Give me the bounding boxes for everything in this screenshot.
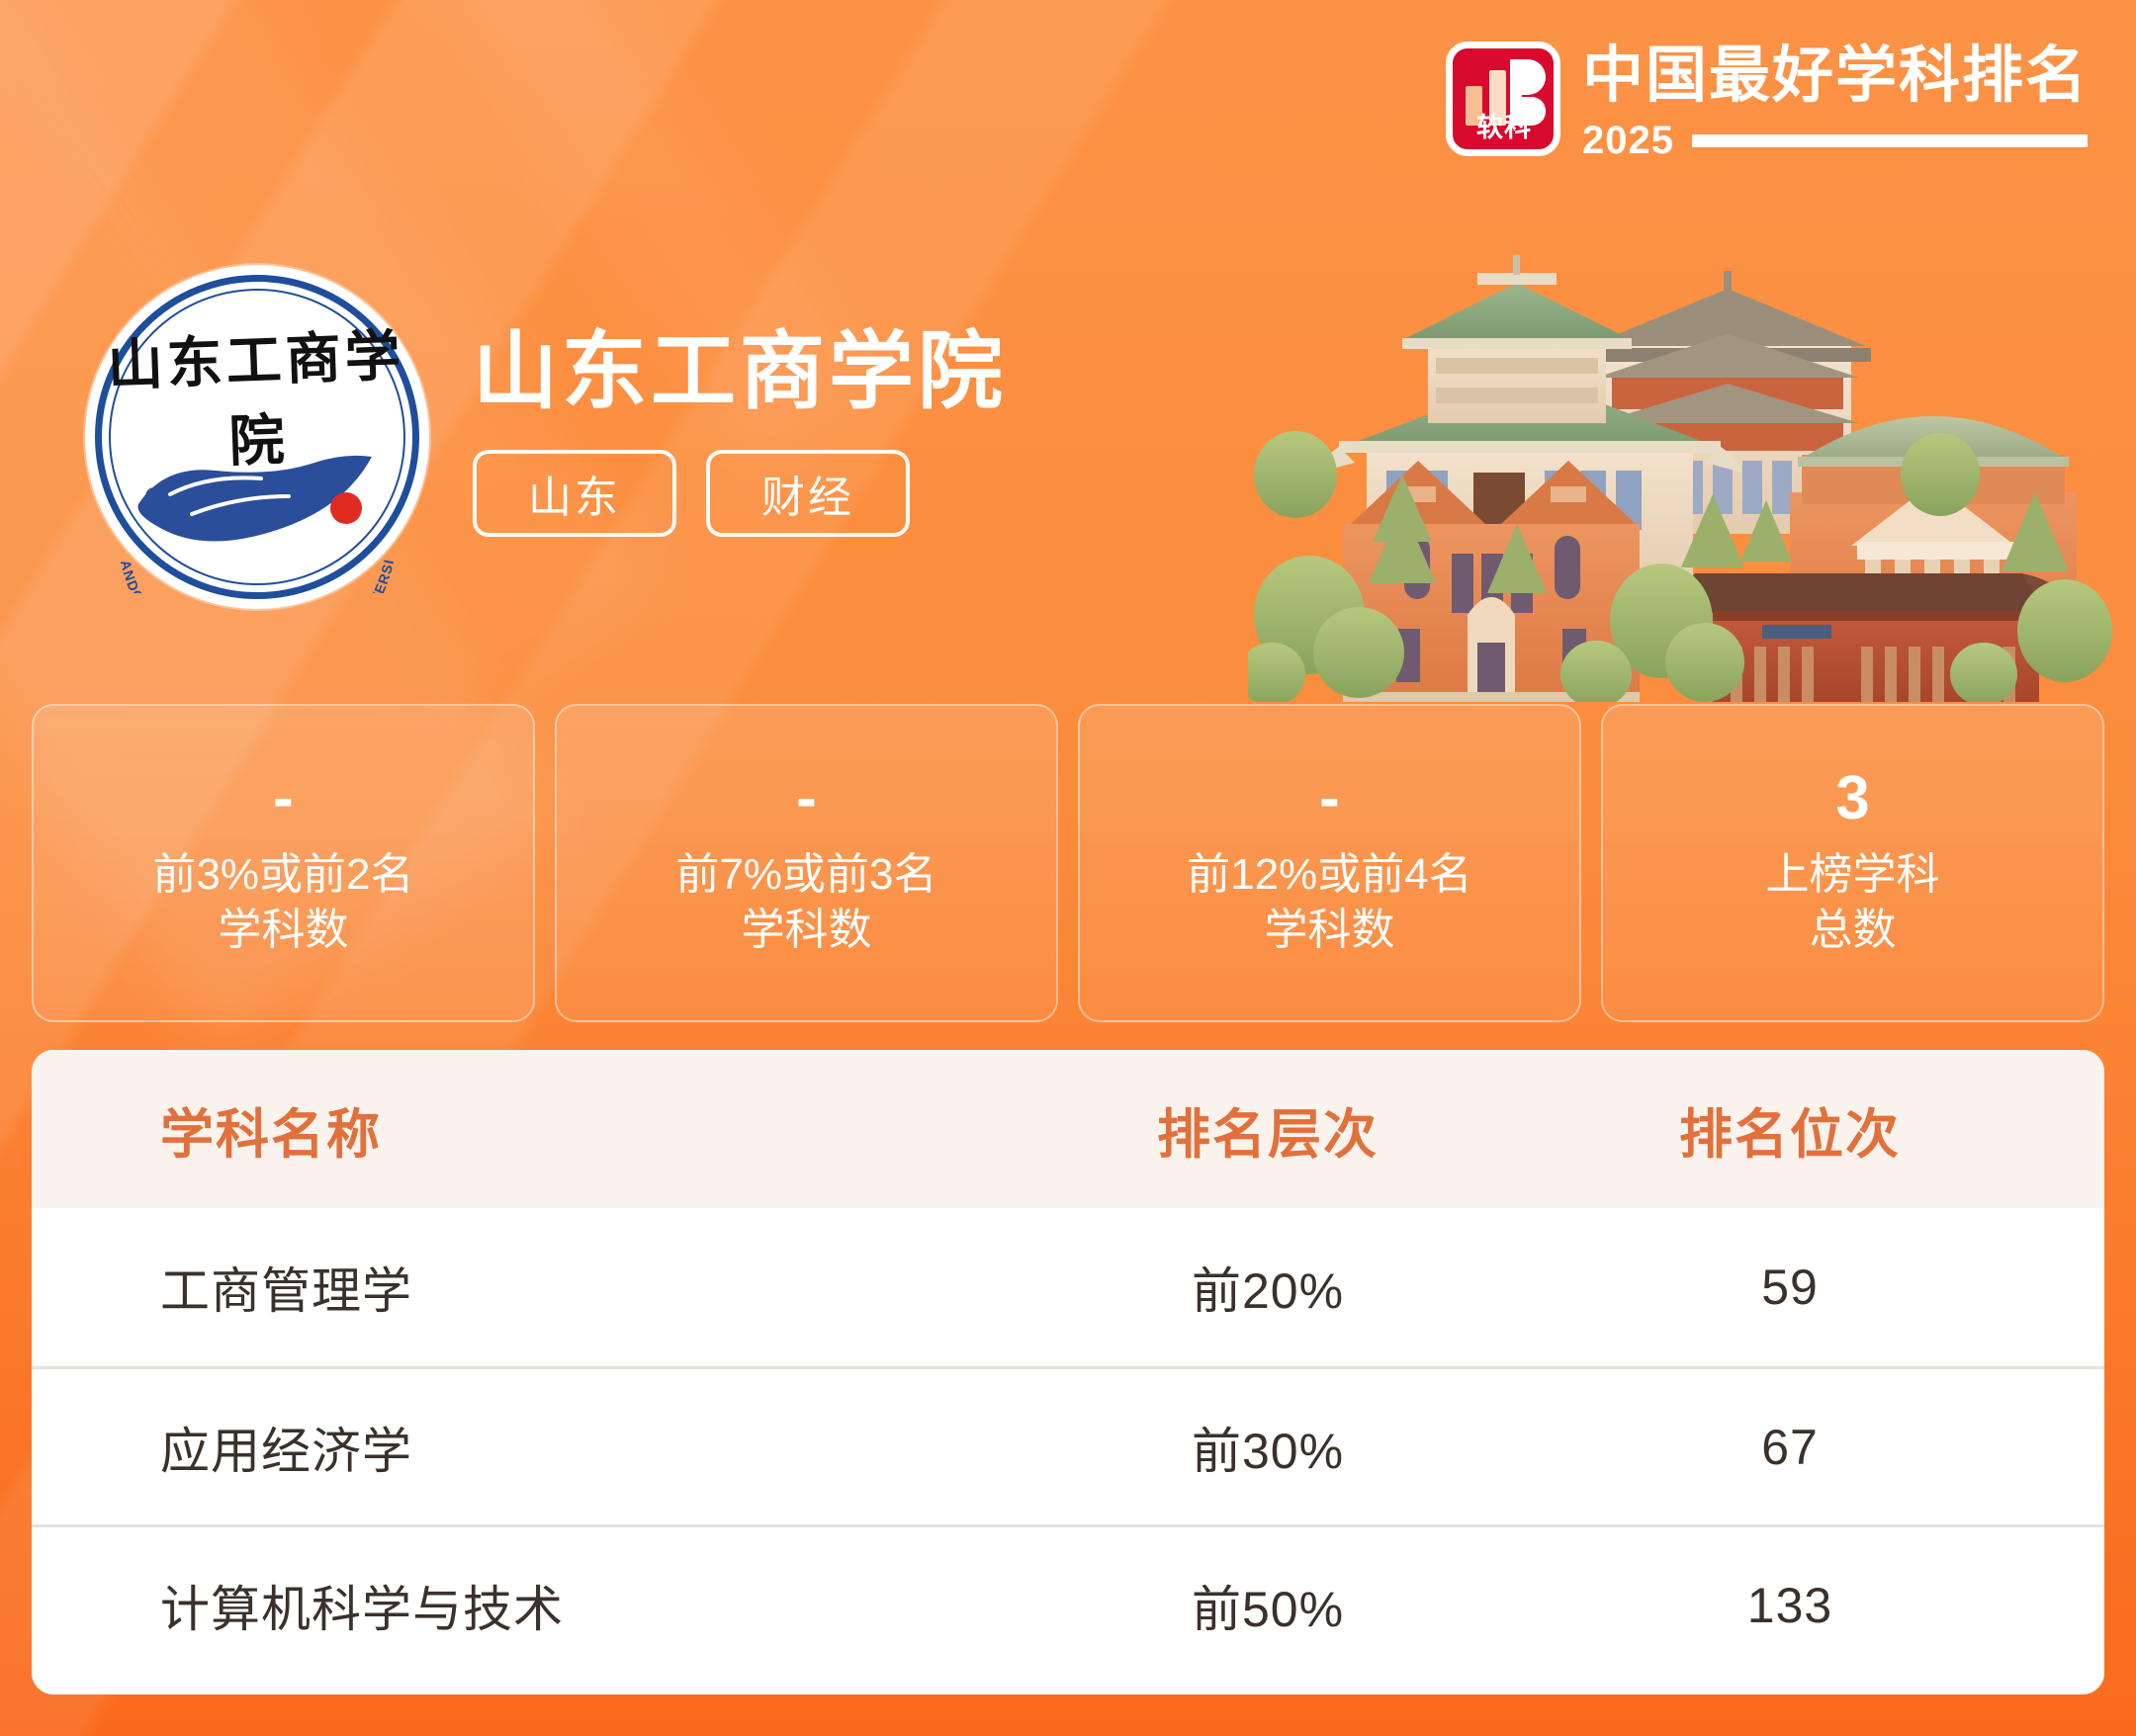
cell-subject: 工商管理学	[32, 1252, 1001, 1323]
stat-value: -	[796, 768, 817, 829]
brand-rule-divider	[1692, 134, 2088, 147]
table-row[interactable]: 计算机科学与技术 前50% 133	[32, 1524, 2104, 1683]
stat-card-top7: - 前7%或前3名 学科数	[555, 704, 1058, 1022]
cell-rank: 59	[1535, 1259, 2104, 1316]
stat-value: -	[273, 768, 294, 829]
seal-red-dot	[330, 492, 362, 524]
stat-label-line2: 学科数	[218, 906, 348, 954]
campus-illustration	[1248, 227, 2118, 702]
table-header-row: 学科名称 排名层次 排名位次	[32, 1050, 2104, 1208]
university-name: 山东工商学院	[473, 327, 1007, 416]
stat-label: 上榜学科 总数	[1766, 847, 1940, 959]
university-logo: 山东工商学院 SHANDONG TECHNOLOGY AND BUSINESS …	[85, 265, 429, 609]
ranking-title: 中国最好学科排名	[1582, 45, 2089, 107]
cell-tier: 前50%	[1001, 1570, 1535, 1641]
ranking-year-row: 2025	[1582, 121, 2089, 160]
shanghairanking-logo-icon: 软科	[1446, 42, 1560, 156]
cell-tier: 前20%	[1001, 1252, 1535, 1323]
cell-rank: 133	[1535, 1577, 2104, 1634]
university-tags: 山东 财经	[473, 450, 1007, 537]
university-identity: 山东工商学院 SHANDONG TECHNOLOGY AND BUSINESS …	[85, 265, 1007, 609]
column-header-rank: 排名位次	[1535, 1090, 2104, 1169]
university-meta: 山东工商学院 山东 财经	[473, 327, 1007, 547]
stats-row: - 前3%或前2名 学科数 - 前7%或前3名 学科数 - 前12%或前4名 学…	[32, 704, 2104, 1022]
cell-rank: 67	[1535, 1419, 2104, 1476]
stat-card-top3: - 前3%或前2名 学科数	[32, 704, 535, 1022]
cell-subject: 计算机科学与技术	[32, 1570, 1001, 1641]
stat-value: -	[1319, 768, 1340, 829]
stat-label-line2: 学科数	[1264, 906, 1394, 954]
cell-subject: 应用经济学	[32, 1412, 1001, 1483]
table-row[interactable]: 工商管理学 前20% 59	[32, 1208, 2104, 1366]
ranking-poster: 软科 中国最好学科排名 2025	[0, 0, 2136, 1736]
ranking-brand-header: 软科 中国最好学科排名 2025	[1446, 42, 2089, 160]
svg-text:SHANDONG TECHNOLOGY AND BUSINE: SHANDONG TECHNOLOGY AND BUSINESS UNIVERS…	[109, 550, 397, 593]
table-body: 工商管理学 前20% 59 应用经济学 前30% 67 计算机科学与技术 前50…	[32, 1208, 2104, 1683]
stat-label-line2: 学科数	[741, 906, 871, 954]
stat-label-line1: 前7%或前3名	[675, 850, 936, 899]
stat-label: 前12%或前4名 学科数	[1187, 847, 1472, 959]
cell-tier: 前30%	[1001, 1412, 1535, 1483]
column-header-tier: 排名层次	[1001, 1090, 1535, 1169]
tag-province[interactable]: 山东	[473, 450, 676, 537]
stat-value: 3	[1835, 768, 1869, 829]
brand-logo-word: 软科	[1461, 113, 1548, 142]
subject-ranking-table: 学科名称 排名层次 排名位次 工商管理学 前20% 59 应用经济学 前30% …	[32, 1050, 2104, 1694]
stat-label-line1: 上榜学科	[1766, 850, 1940, 899]
stat-label-line2: 总数	[1810, 906, 1897, 954]
table-row[interactable]: 应用经济学 前30% 67	[32, 1366, 2104, 1524]
tag-category[interactable]: 财经	[706, 450, 910, 537]
stat-card-total: 3 上榜学科 总数	[1601, 704, 2104, 1022]
stat-label: 前3%或前2名 学科数	[152, 847, 413, 959]
column-header-subject: 学科名称	[32, 1090, 1001, 1169]
seal-english-name: SHANDONG TECHNOLOGY AND BUSINESS UNIVERS…	[85, 550, 429, 593]
stat-label-line1: 前3%或前2名	[152, 850, 413, 899]
stat-label: 前7%或前3名 学科数	[675, 847, 936, 959]
stat-card-top12: - 前12%或前4名 学科数	[1078, 704, 1581, 1022]
stat-label-line1: 前12%或前4名	[1187, 850, 1472, 899]
brand-text-block: 中国最好学科排名 2025	[1582, 42, 2089, 160]
ranking-year: 2025	[1582, 121, 1674, 160]
